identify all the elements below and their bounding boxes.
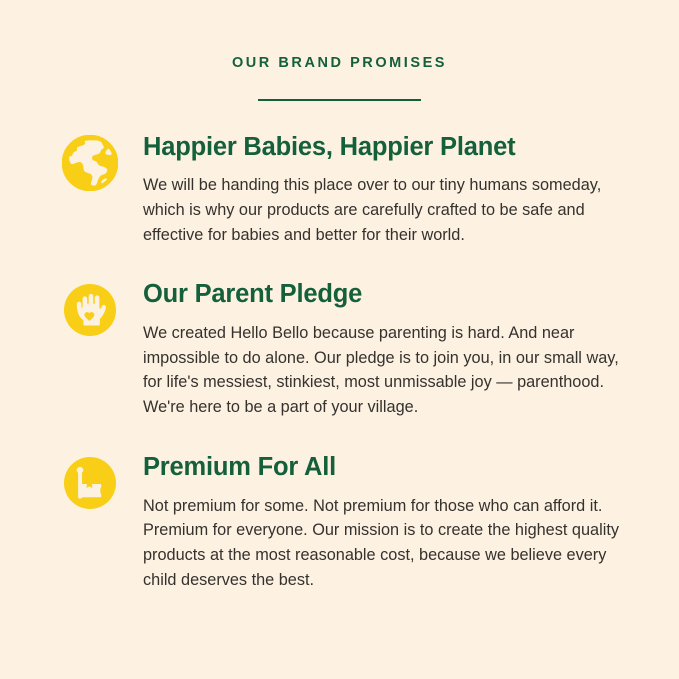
hand-heart-icon [62, 282, 118, 338]
page-title: OUR BRAND PROMISES [0, 56, 679, 71]
promise-text: Our Parent Pledge We created Hello Bello… [143, 280, 623, 420]
promise-body: Not premium for some. Not premium for th… [143, 494, 623, 593]
promises-list: Happier Babies, Happier Planet We will b… [0, 133, 679, 593]
promise-body: We created Hello Bello because parenting… [143, 321, 623, 420]
promise-title: Happier Babies, Happier Planet [143, 133, 623, 162]
promise-title: Premium For All [143, 453, 623, 482]
list-item: Happier Babies, Happier Planet We will b… [62, 133, 623, 248]
list-item: Premium For All Not premium for some. No… [62, 453, 623, 593]
page-header: OUR BRAND PROMISES [0, 0, 679, 101]
brand-promises-page: OUR BRAND PROMISES Happier Babies, Happi… [0, 0, 679, 679]
promise-text: Premium For All Not premium for some. No… [143, 453, 623, 593]
promise-text: Happier Babies, Happier Planet We will b… [143, 133, 623, 248]
list-item: Our Parent Pledge We created Hello Bello… [62, 280, 623, 420]
promise-title: Our Parent Pledge [143, 280, 623, 309]
header-divider-wrap [0, 99, 679, 101]
globe-icon [62, 135, 118, 191]
header-divider [258, 99, 421, 101]
promise-body: We will be handing this place over to ou… [143, 173, 623, 247]
flag-star-icon [62, 455, 118, 511]
